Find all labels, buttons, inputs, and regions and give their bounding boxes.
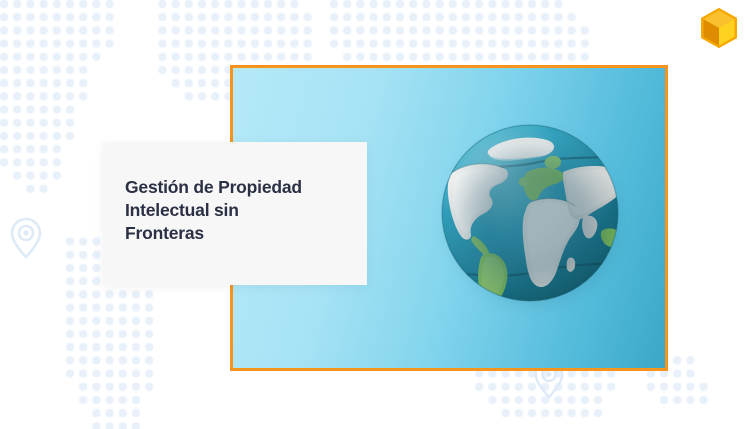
title-line-2: Intelectual sin [125,199,353,222]
map-pin-left-icon [8,216,44,265]
hexagon-cube-logo[interactable] [700,8,738,48]
page-title: Gestión de Propiedad Intelectual sin Fro… [125,176,353,245]
globe-illustration [435,118,625,308]
title-line-1: Gestión de Propiedad [125,176,353,199]
title-line-3: Fronteras [125,222,353,245]
slide-canvas: Gestión de Propiedad Intelectual sin Fro… [0,0,750,429]
title-card: Gestión de Propiedad Intelectual sin Fro… [103,142,367,285]
globe-drop-shadow [443,130,623,310]
